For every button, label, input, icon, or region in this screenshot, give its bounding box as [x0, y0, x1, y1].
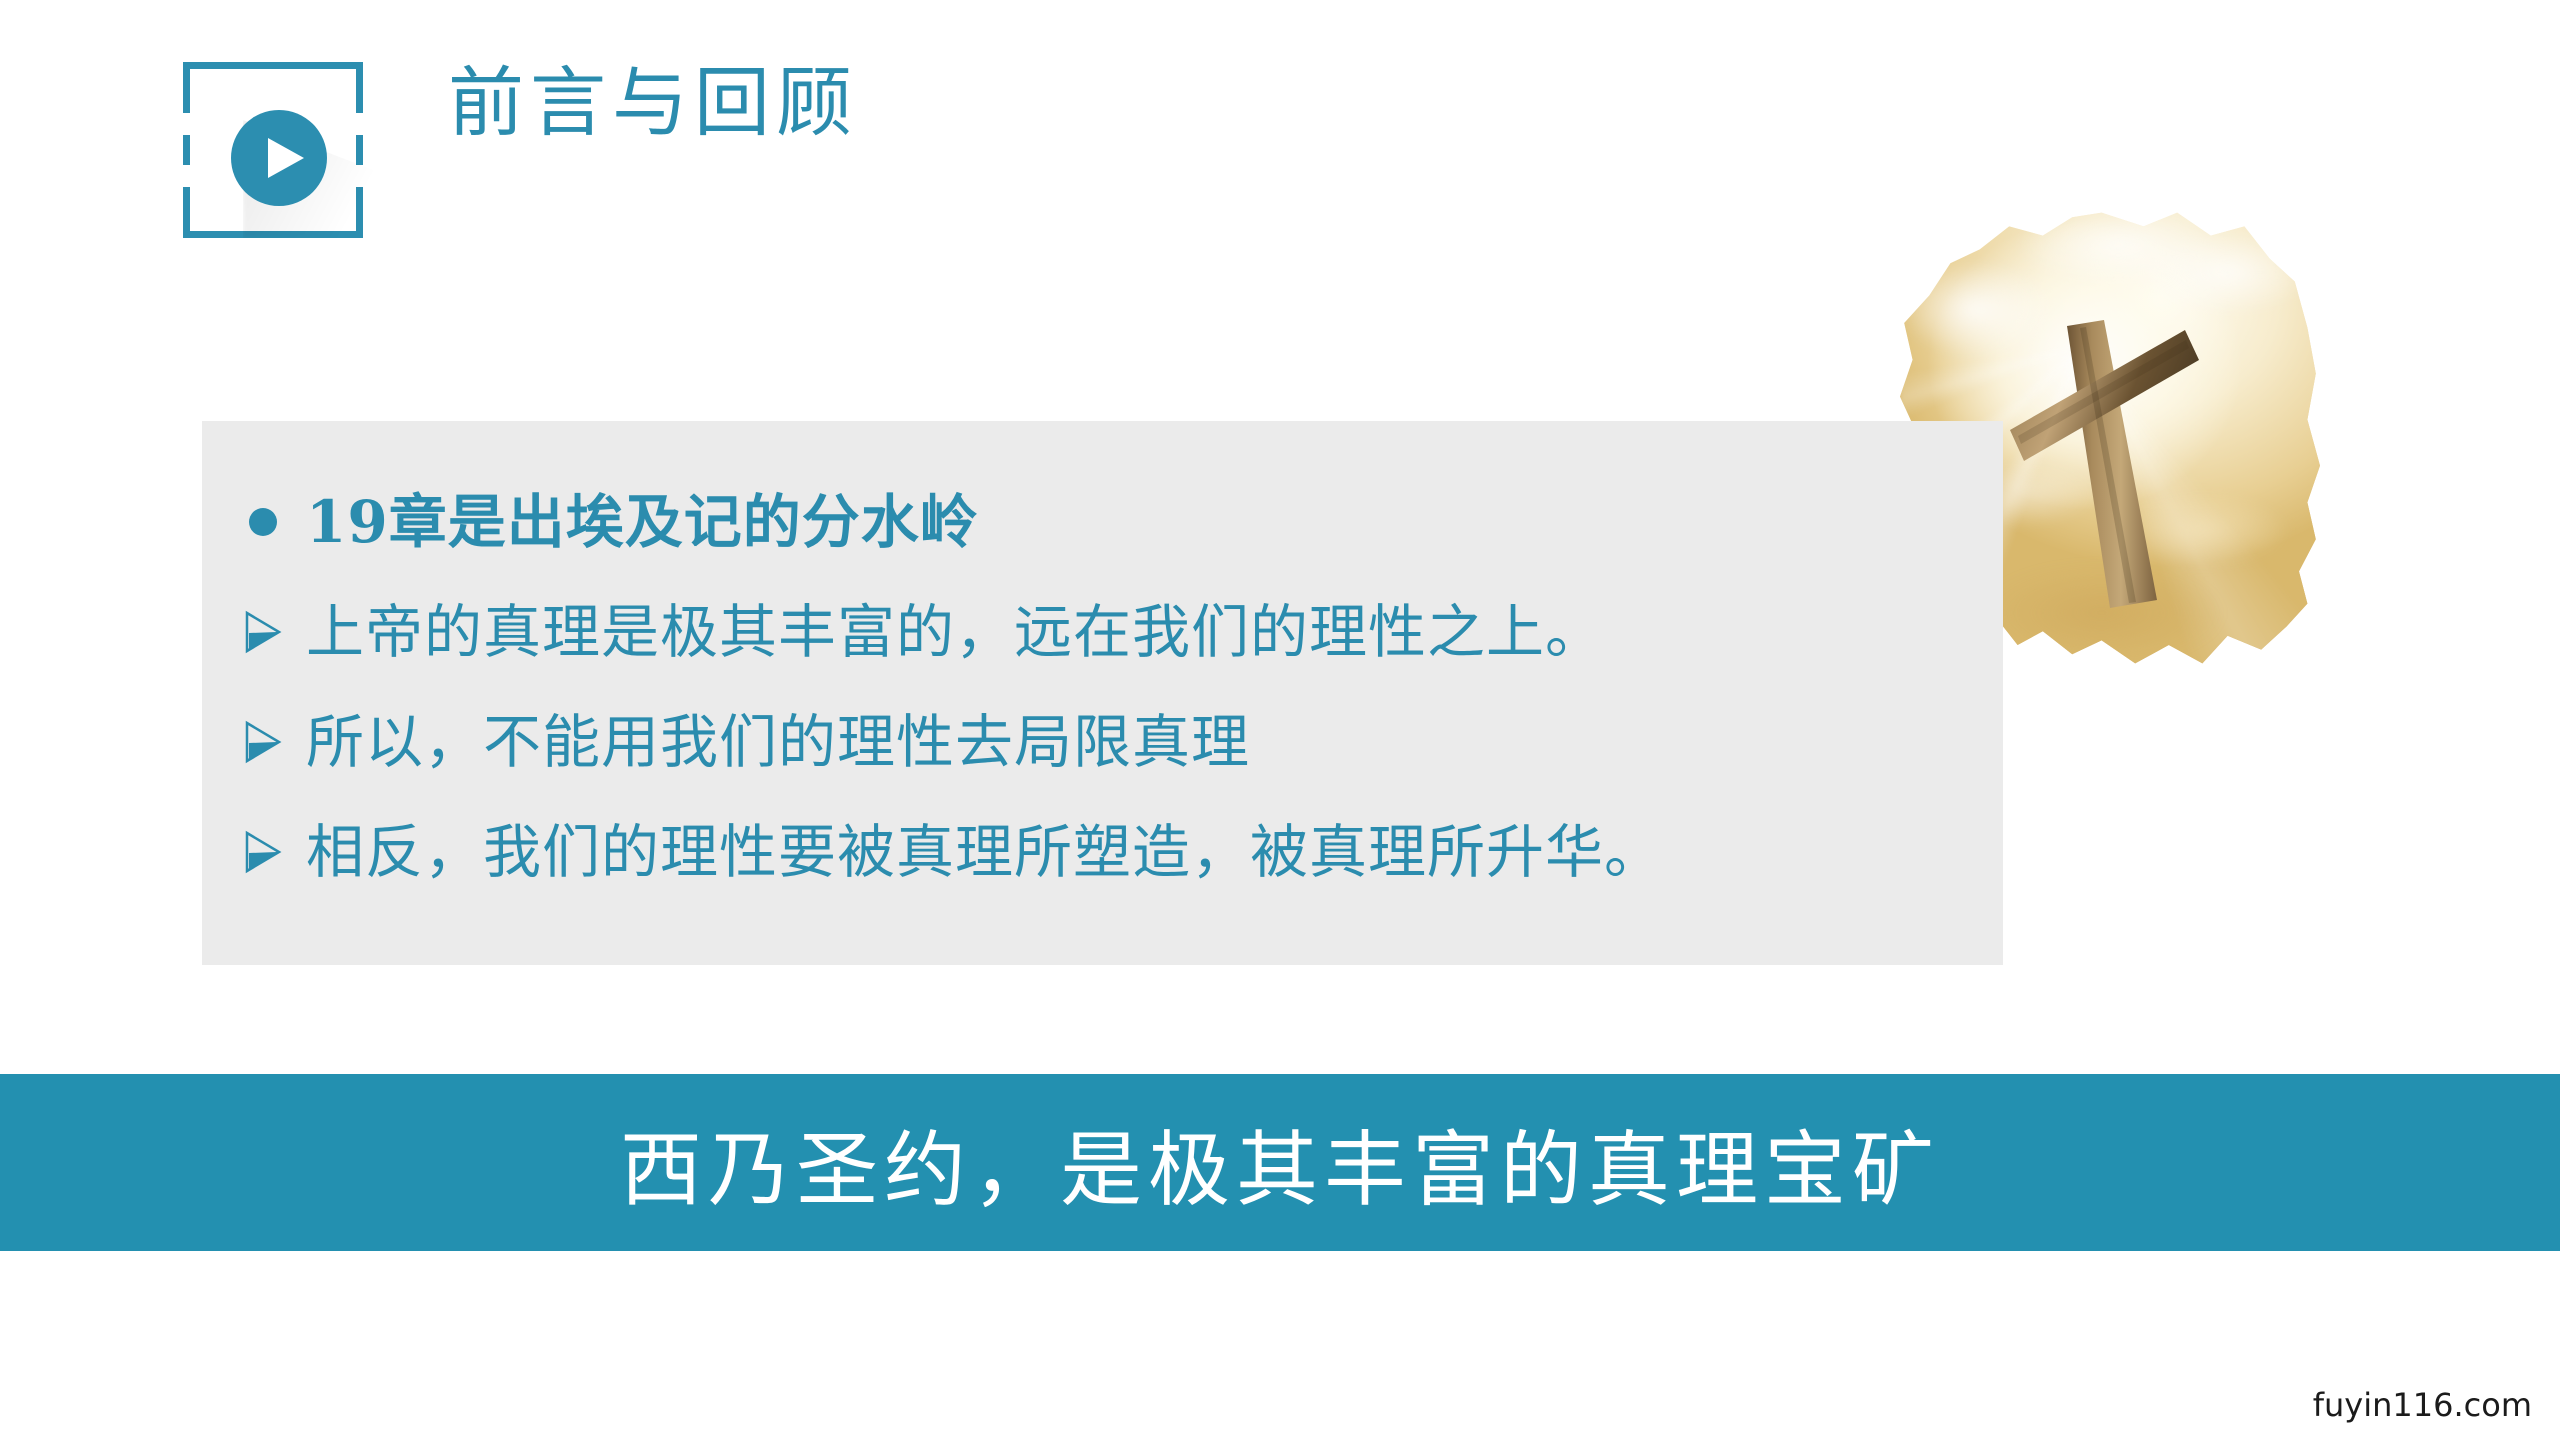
bullet-list: 19章是出埃及记的分水岭 上帝的真理是极其丰富的，远在我们的理性之上。 所以，不… [202, 421, 2202, 923]
list-item: 19章是出埃及记的分水岭 [220, 483, 2202, 581]
list-item-label: 上帝的真理是极其丰富的，远在我们的理性之上。 [306, 593, 1604, 671]
slide-canvas: 前言与回顾 [0, 0, 2560, 1440]
list-item: 相反，我们的理性要被真理所塑造，被真理所升华。 [220, 813, 2202, 911]
list-item-label: 19章是出埃及记的分水岭 [306, 483, 979, 561]
header-logo [183, 62, 363, 238]
list-item: 所以，不能用我们的理性去局限真理 [220, 703, 2202, 801]
play-triangle-icon [262, 135, 308, 181]
banner-text: 西乃圣约，是极其丰富的真理宝矿 [620, 1103, 1940, 1222]
play-icon [231, 110, 327, 206]
filled-circle-bullet-icon [220, 483, 306, 561]
arrow-triangle-bullet-icon [220, 593, 306, 671]
bottom-banner: 西乃圣约，是极其丰富的真理宝矿 [0, 1074, 2560, 1251]
footer-watermark: fuyin116.com [2313, 1386, 2532, 1424]
arrow-triangle-bullet-icon [220, 703, 306, 781]
arrow-triangle-bullet-icon [220, 813, 306, 891]
list-item-label: 相反，我们的理性要被真理所塑造，被真理所升华。 [306, 813, 1663, 891]
list-item: 上帝的真理是极其丰富的，远在我们的理性之上。 [220, 593, 2202, 691]
list-item-label: 所以，不能用我们的理性去局限真理 [306, 703, 1250, 781]
page-title: 前言与回顾 [448, 58, 858, 148]
